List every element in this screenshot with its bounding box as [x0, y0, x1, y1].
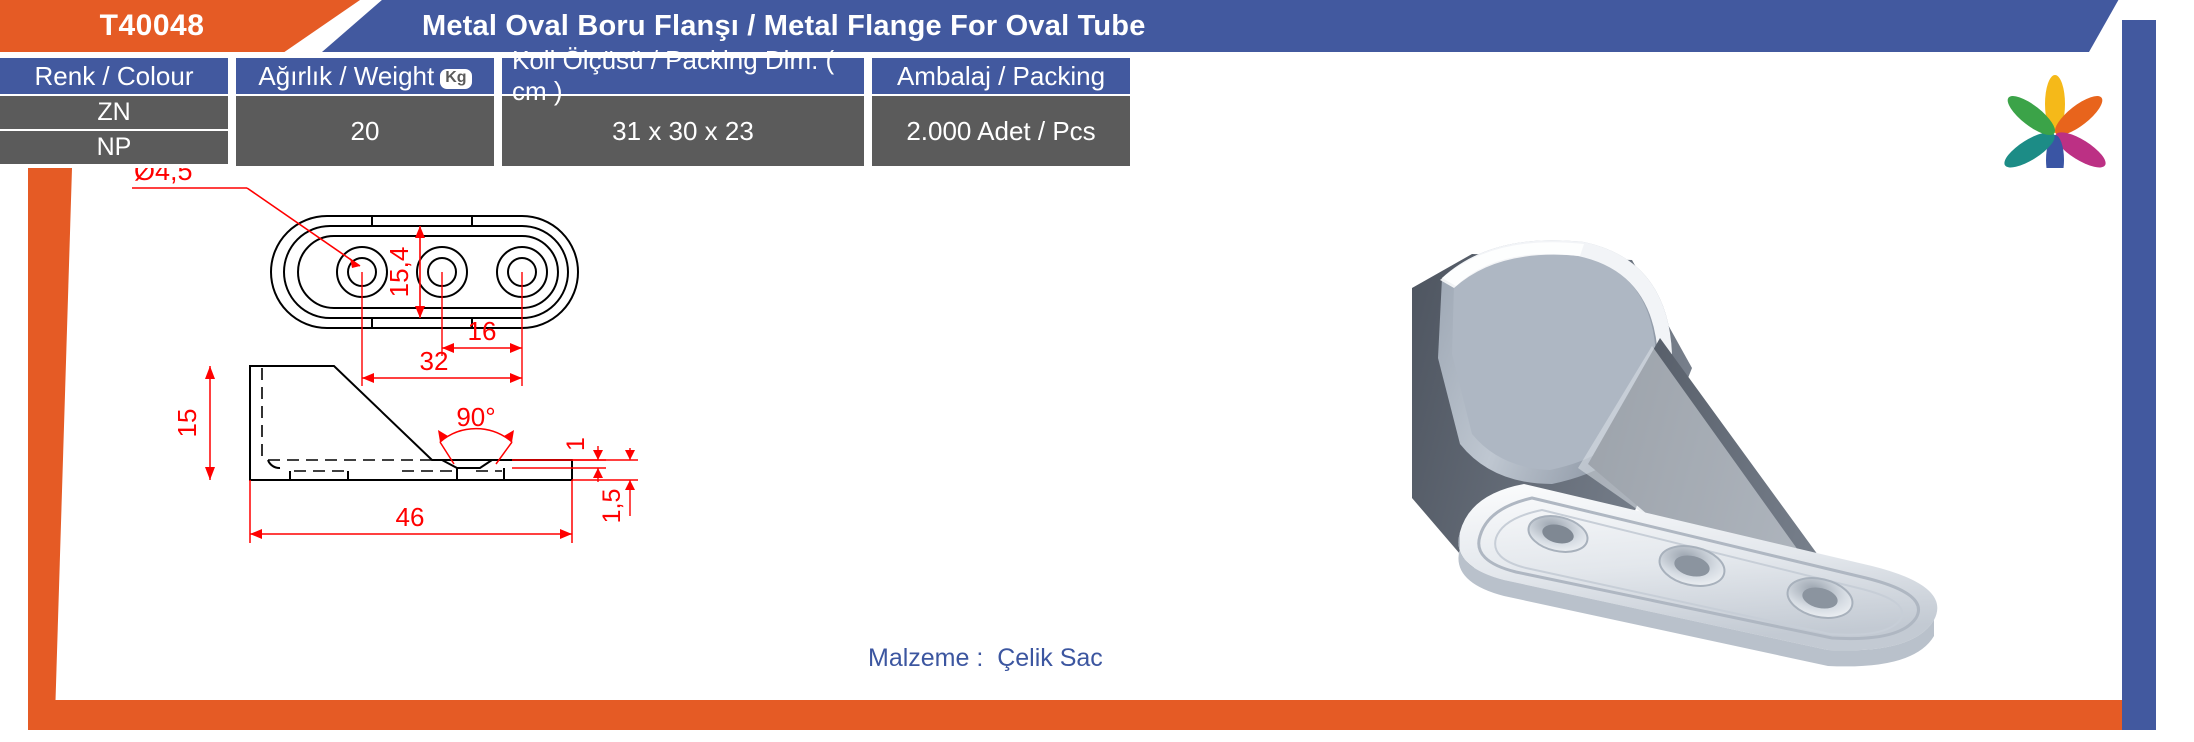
spec-header-packing-dim: Koli Ölçüsü / Packing Dim. ( cm )	[502, 58, 864, 94]
dimension-hole-diameter	[132, 188, 360, 268]
top-view-drawing	[271, 216, 578, 328]
dim-label-hole-diameter: Ø4,5	[134, 168, 193, 186]
spec-value-packing: 2.000 Adet / Pcs	[872, 96, 1130, 166]
dim-label-15: 15	[172, 409, 202, 438]
technical-drawing-area: Ø4,5 15,4 16	[72, 168, 2112, 700]
header-band: Metal Oval Boru Flanşı / Metal Flange Fo…	[0, 0, 2194, 52]
dim-label-1: 1	[562, 437, 590, 451]
product-3d-render	[1412, 240, 1937, 666]
side-view-drawing	[250, 366, 572, 480]
kg-unit-badge: Kg	[440, 69, 471, 89]
material-note: Malzeme : Çelik Sac	[868, 644, 1103, 673]
spec-value-weight: 20	[236, 96, 494, 166]
frame-border-right	[2122, 20, 2156, 730]
dimension-1	[512, 446, 606, 482]
spec-column-packing: Ambalaj / Packing 2.000 Adet / Pcs	[872, 58, 1130, 166]
spec-header-weight: Ağırlık / Weight Kg	[236, 58, 494, 94]
flower-logo-icon	[1995, 72, 2115, 168]
datasheet-page: Metal Oval Boru Flanşı / Metal Flange Fo…	[0, 0, 2194, 742]
dimension-90-degrees	[438, 429, 514, 464]
product-code-banner: T40048	[0, 0, 360, 52]
dim-label-90-degrees: 90°	[456, 402, 495, 432]
frame-border-bottom	[28, 700, 2138, 730]
spec-column-packing-dim: Koli Ölçüsü / Packing Dim. ( cm ) 31 x 3…	[502, 58, 864, 166]
spec-header-colour: Renk / Colour	[0, 58, 228, 94]
product-title: Metal Oval Boru Flanşı / Metal Flange Fo…	[422, 10, 1146, 43]
spec-column-colour: Renk / Colour ZN NP	[0, 58, 228, 164]
dimension-15	[205, 366, 215, 480]
spec-header-packing: Ambalaj / Packing	[872, 58, 1130, 94]
spec-value-colour-zn: ZN	[0, 96, 228, 129]
dim-label-46: 46	[396, 502, 425, 532]
spec-header-weight-label: Ağırlık / Weight	[258, 61, 434, 92]
frame-border-left	[28, 168, 72, 708]
product-code: T40048	[100, 9, 205, 43]
spec-value-colour-np: NP	[0, 131, 228, 164]
dim-label-15-4: 15,4	[384, 247, 414, 298]
dim-label-1-5: 1,5	[598, 489, 626, 524]
dim-label-16: 16	[468, 316, 497, 346]
dim-label-32: 32	[420, 346, 449, 376]
spec-column-weight: Ağırlık / Weight Kg 20	[236, 58, 494, 166]
